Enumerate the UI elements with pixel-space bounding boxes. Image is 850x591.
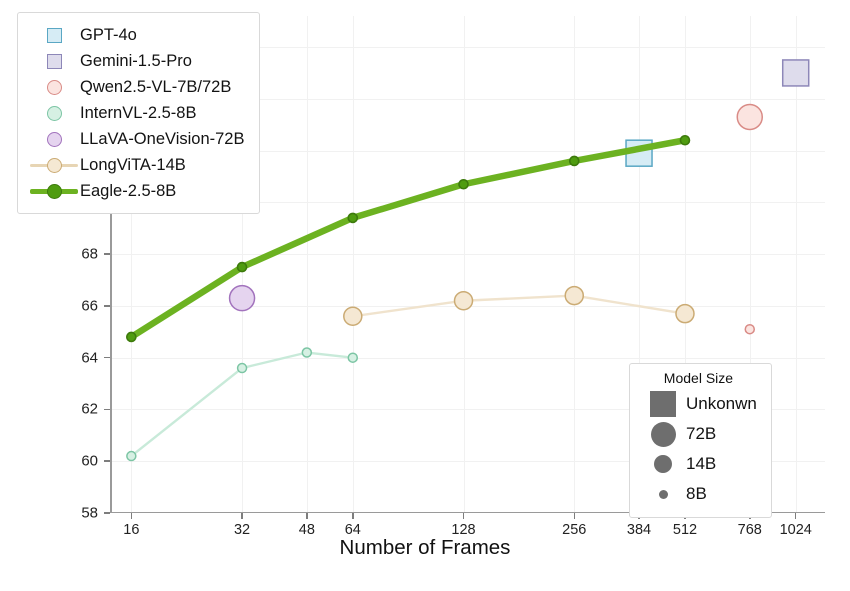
size-circle-icon [659, 490, 668, 499]
series-gemini-1-5-pro [783, 60, 809, 86]
legend-square-icon [47, 54, 62, 69]
size-legend-label: 8B [686, 484, 707, 504]
size-legend-marker-icon [640, 391, 686, 417]
x-axis-tick-label: 32 [234, 522, 250, 538]
x-axis-tick [463, 513, 465, 519]
y-axis-tick-label: 58 [81, 505, 98, 522]
model-size-legend-title: Model Size [640, 370, 757, 386]
size-legend-item: Unkonwn [640, 389, 757, 419]
x-axis-tick-label: 48 [299, 522, 315, 538]
y-axis-tick-label: 68 [81, 246, 98, 263]
x-axis-tick [795, 513, 797, 519]
data-point[interactable] [344, 307, 362, 325]
x-axis-tick-label: 128 [451, 522, 475, 538]
legend-marker-icon [28, 76, 80, 98]
legend-circle-icon [47, 80, 62, 95]
y-axis-tick-label: 60 [81, 453, 98, 470]
legend-item-internvl-2-5-8b[interactable]: InternVL-2.5-8B [28, 100, 245, 126]
legend-item-gemini-1-5-pro[interactable]: Gemini-1.5-Pro [28, 48, 245, 74]
data-point[interactable] [783, 60, 809, 86]
size-legend-marker-icon [640, 422, 686, 447]
x-axis-tick-label: 768 [738, 522, 762, 538]
x-axis-tick-label: 384 [627, 522, 651, 538]
data-point[interactable] [348, 213, 357, 222]
series-internvl-2-5-8b [127, 348, 357, 461]
x-axis-tick [352, 513, 354, 519]
legend-marker-icon [28, 24, 80, 46]
data-point[interactable] [745, 325, 754, 334]
size-circle-icon [654, 455, 672, 473]
legend-item-label: Eagle-2.5-8B [80, 182, 176, 201]
size-legend-item: 72B [640, 419, 757, 449]
data-point[interactable] [737, 104, 762, 129]
chart-root: Performance on Video-MME (w/o subs) Numb… [0, 0, 850, 591]
series-longvita-14b [344, 287, 694, 326]
legend-item-label: InternVL-2.5-8B [80, 104, 196, 123]
x-axis-tick [131, 513, 133, 519]
size-legend-item: 8B [640, 479, 757, 509]
legend-item-qwen2-5-vl-7b-72b[interactable]: Qwen2.5-VL-7B/72B [28, 74, 245, 100]
x-axis-tick [306, 513, 308, 519]
data-point[interactable] [676, 305, 694, 323]
data-point[interactable] [348, 353, 357, 362]
legend-item-label: GPT-4o [80, 26, 137, 45]
x-axis-tick-label: 64 [345, 522, 361, 538]
y-axis-tick-label: 66 [81, 297, 98, 314]
size-legend-label: 14B [686, 454, 716, 474]
legend-circle-icon [47, 132, 62, 147]
legend-circle-icon [47, 106, 62, 121]
legend-marker-icon [28, 102, 80, 124]
size-legend-item: 14B [640, 449, 757, 479]
x-axis-tick-label: 1024 [780, 522, 812, 538]
legend-marker-icon [28, 50, 80, 72]
data-point[interactable] [238, 364, 247, 373]
legend-item-label: LongViTA-14B [80, 156, 186, 175]
data-point[interactable] [570, 156, 579, 165]
legend-square-icon [47, 28, 62, 43]
data-point[interactable] [455, 292, 473, 310]
x-axis-tick-label: 512 [673, 522, 697, 538]
legend-item-label: Gemini-1.5-Pro [80, 52, 192, 71]
legend-item-gpt-4o[interactable]: GPT-4o [28, 22, 245, 48]
legend-item-llava-onevision-72b[interactable]: LLaVA-OneVision-72B [28, 126, 245, 152]
y-axis-tick-label: 62 [81, 401, 98, 418]
data-point[interactable] [238, 263, 247, 272]
x-axis-tick [241, 513, 243, 519]
legend-item-label: LLaVA-OneVision-72B [80, 130, 245, 149]
legend-circle-icon [47, 184, 62, 199]
x-axis-tick-label: 256 [562, 522, 586, 538]
data-point[interactable] [680, 136, 689, 145]
data-point[interactable] [565, 287, 583, 305]
model-size-legend-rows: Unkonwn72B14B8B [640, 389, 757, 509]
series-llava-onevision-72b [230, 286, 255, 311]
data-point[interactable] [459, 180, 468, 189]
legend-item-longvita-14b[interactable]: LongViTA-14B [28, 152, 245, 178]
size-circle-icon [651, 422, 676, 447]
size-legend-marker-icon [640, 490, 686, 499]
data-point[interactable] [127, 332, 136, 341]
series-line [353, 296, 685, 317]
legend-item-eagle-2-5-8b[interactable]: Eagle-2.5-8B [28, 178, 245, 204]
x-axis-title: Number of Frames [0, 536, 850, 560]
data-point[interactable] [230, 286, 255, 311]
x-axis-tick-label: 16 [123, 522, 139, 538]
size-legend-label: 72B [686, 424, 716, 444]
data-point[interactable] [302, 348, 311, 357]
model-size-legend: Model Size Unkonwn72B14B8B [629, 363, 772, 518]
x-axis-tick [574, 513, 576, 519]
legend-marker-icon [28, 180, 80, 202]
legend-marker-icon [28, 154, 80, 176]
y-axis-tick-label: 64 [81, 349, 98, 366]
series-qwen2-5-vl-7b-72b [737, 104, 762, 333]
legend-item-label: Qwen2.5-VL-7B/72B [80, 78, 231, 97]
size-legend-marker-icon [640, 455, 686, 473]
legend-circle-icon [47, 158, 62, 173]
size-square-icon [650, 391, 676, 417]
model-legend[interactable]: GPT-4oGemini-1.5-ProQwen2.5-VL-7B/72BInt… [17, 12, 260, 214]
legend-marker-icon [28, 128, 80, 150]
size-legend-label: Unkonwn [686, 394, 757, 414]
data-point[interactable] [127, 452, 136, 461]
